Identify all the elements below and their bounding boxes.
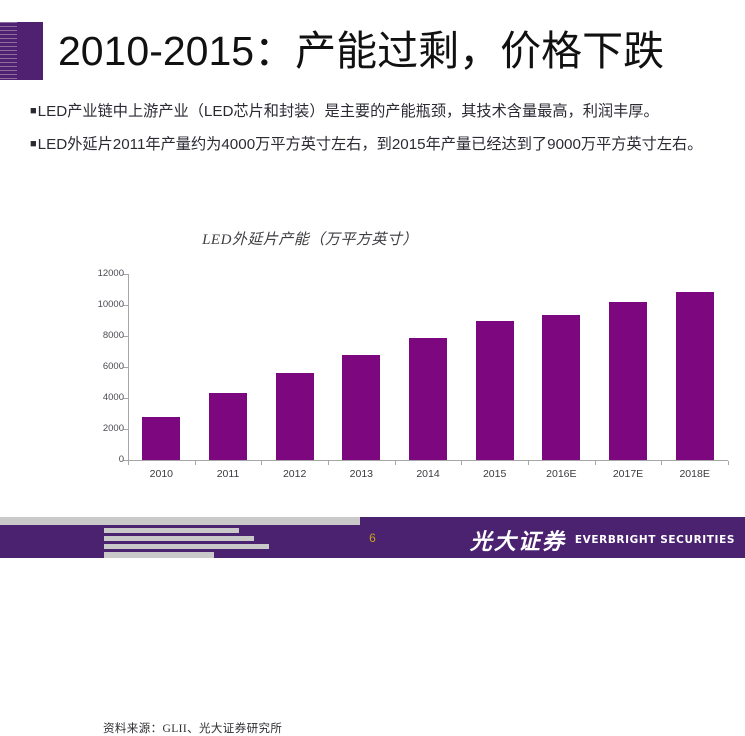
y-axis-label: 12000 <box>64 269 124 279</box>
chart-bar <box>676 292 714 460</box>
source-note: 资料来源：GLII、光大证券研究所 <box>103 720 282 736</box>
brand-logo: 光大证券 EVERBRIGHT SECURITIES <box>470 524 735 556</box>
y-axis-label: 10000 <box>64 300 124 310</box>
x-axis-label: 2013 <box>326 468 396 480</box>
chart-bar <box>142 417 180 460</box>
chart-bar <box>409 338 447 460</box>
x-axis-tick <box>661 461 662 465</box>
x-axis-label: 2012 <box>260 468 330 480</box>
x-axis-tick <box>328 461 329 465</box>
x-axis-tick <box>728 461 729 465</box>
chart-bar <box>209 393 247 460</box>
x-axis-label: 2016E <box>526 468 596 480</box>
chart-plot-area: 0200040006000800010000120002010201120122… <box>128 274 728 461</box>
x-axis-label: 2017E <box>593 468 663 480</box>
x-axis-label: 2018E <box>660 468 730 480</box>
y-axis-label: 8000 <box>64 331 124 341</box>
chart: LED外延片产能（万平方英寸） 020004000600080001000012… <box>0 228 745 488</box>
bullet-text: LED产业链中上游产业（LED芯片和封装）是主要的产能瓶颈，其技术含量最高，利润… <box>38 103 659 120</box>
y-axis-label: 6000 <box>64 362 124 372</box>
x-axis-label: 2015 <box>460 468 530 480</box>
y-axis-label: 2000 <box>64 424 124 434</box>
y-axis-label: 4000 <box>64 393 124 403</box>
x-axis-tick <box>461 461 462 465</box>
bar-series <box>128 274 728 460</box>
x-axis-tick <box>195 461 196 465</box>
title-accent-stripes <box>0 22 17 80</box>
x-axis-label: 2014 <box>393 468 463 480</box>
x-axis-tick <box>595 461 596 465</box>
y-axis-label: 0 <box>64 455 124 465</box>
brand-name-en: EVERBRIGHT SECURITIES <box>575 534 735 546</box>
chart-bar <box>276 373 314 460</box>
brand-name-cn: 光大证券 <box>470 524 566 556</box>
title-accent-block <box>0 22 43 80</box>
footer-bar: 6 光大证券 EVERBRIGHT SECURITIES <box>0 517 745 558</box>
chart-bar <box>342 355 380 460</box>
bullet-text: LED外延片2011年产量约为4000万平方英寸左右，到2015年产量已经达到了… <box>38 136 703 153</box>
x-axis-line <box>128 460 728 461</box>
chart-bar <box>542 315 580 460</box>
chart-bar <box>476 321 514 460</box>
slide-title-row: 2010-2015：产能过剩，价格下跌 <box>0 22 745 80</box>
chart-bar <box>609 302 647 460</box>
bullet-item: ■LED产业链中上游产业（LED芯片和封装）是主要的产能瓶颈，其技术含量最高，利… <box>30 96 730 127</box>
page-title: 2010-2015：产能过剩，价格下跌 <box>58 20 664 82</box>
x-axis-label: 2011 <box>193 468 263 480</box>
x-axis-tick <box>528 461 529 465</box>
bullet-item: ■LED外延片2011年产量约为4000万平方英寸左右，到2015年产量已经达到… <box>30 129 730 160</box>
bullet-marker-icon: ■ <box>30 105 37 117</box>
body-text: ■LED产业链中上游产业（LED芯片和封装）是主要的产能瓶颈，其技术含量最高，利… <box>30 96 730 162</box>
slide: 2010-2015：产能过剩，价格下跌 ■LED产业链中上游产业（LED芯片和封… <box>0 0 745 558</box>
x-axis-tick <box>128 461 129 465</box>
x-axis-tick <box>261 461 262 465</box>
bullet-marker-icon: ■ <box>30 138 37 150</box>
chart-title: LED外延片产能（万平方英寸） <box>0 228 620 249</box>
x-axis-tick <box>395 461 396 465</box>
x-axis-label: 2010 <box>126 468 196 480</box>
